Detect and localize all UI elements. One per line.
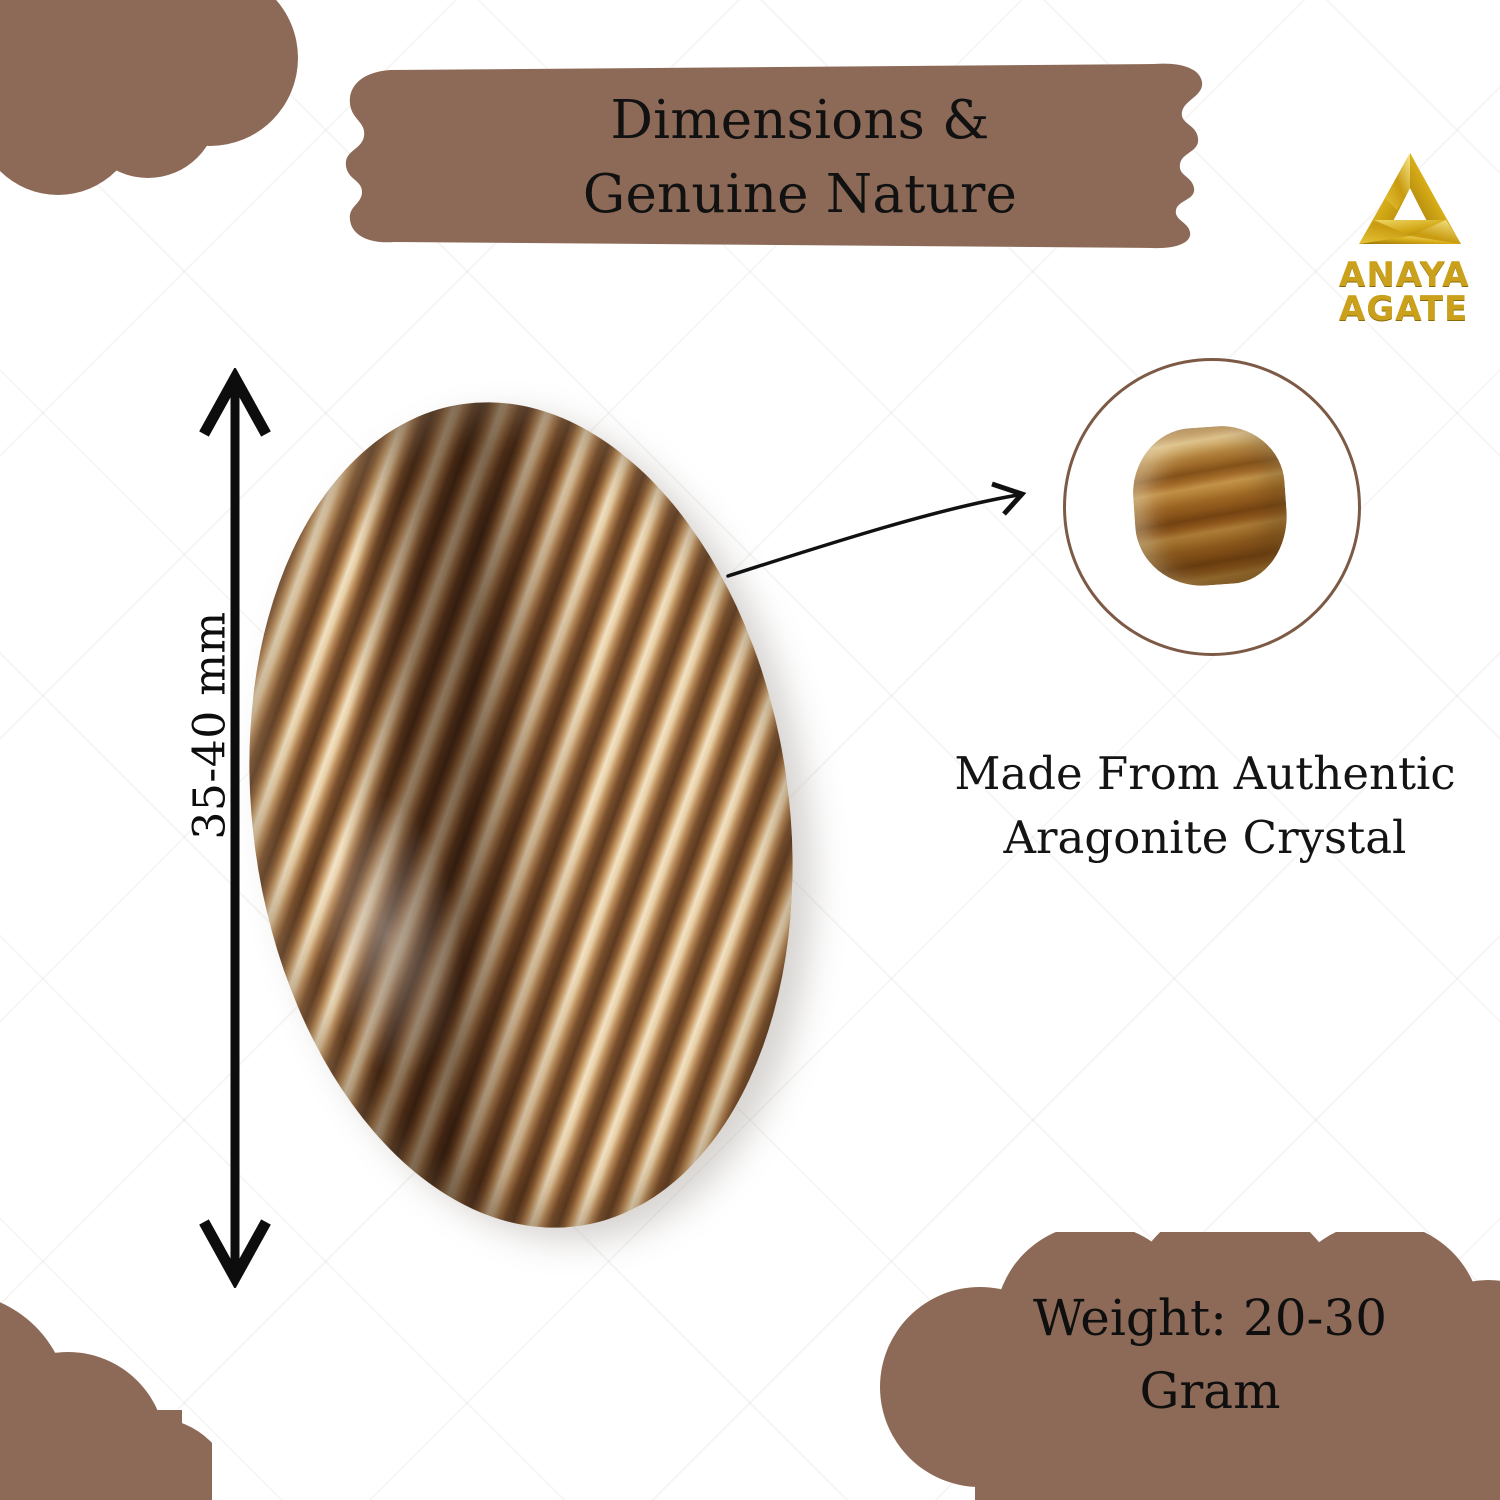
inset-caption: Made From Authentic Aragonite Crystal [900, 742, 1500, 870]
weight-callout: Weight: 20-30 Gram [950, 1282, 1470, 1427]
curved-pointer-arrow [700, 440, 1060, 610]
brand-line-2: AGATE [1339, 292, 1500, 326]
title-line-1: Dimensions & [610, 84, 989, 157]
brand-logo: ANAYA AGATE [1339, 148, 1500, 333]
weight-line-2: Gram [950, 1355, 1470, 1428]
brand-wordmark: ANAYA AGATE [1339, 258, 1500, 326]
infographic-canvas: Dimensions & Genuine Nature [0, 0, 1500, 1500]
faceted-gold-triangle-icon [1351, 148, 1469, 253]
brand-line-1: ANAYA [1339, 258, 1500, 292]
caption-line-1: Made From Authentic [900, 742, 1500, 806]
title-line-2: Genuine Nature [583, 158, 1017, 231]
page-title: Dimensions & Genuine Nature [360, 70, 1240, 245]
decorative-cloud-bottom-left [0, 1290, 212, 1500]
decorative-cloud-top-left [0, 0, 298, 208]
inset-circle-frame [1063, 358, 1361, 656]
dimension-label: 35-40 mm [185, 596, 236, 856]
inset-aragonite-tumbled-stone-image [1129, 422, 1292, 590]
weight-line-1: Weight: 20-30 [950, 1282, 1470, 1355]
caption-line-2: Aragonite Crystal [900, 806, 1500, 870]
